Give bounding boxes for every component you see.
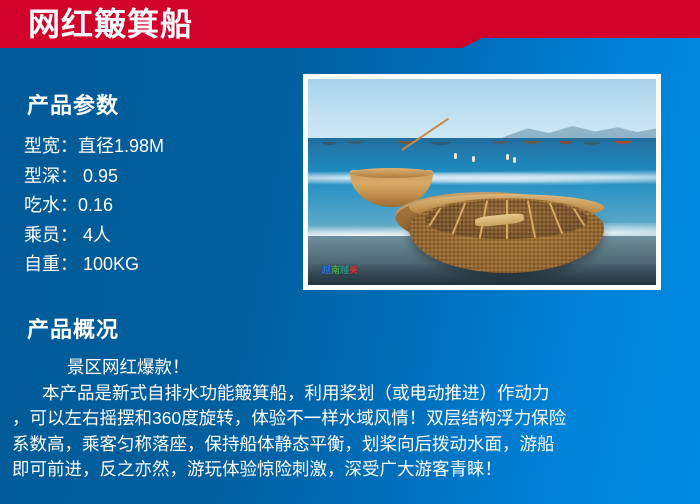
overview-line-5: 即可前进，反之亦然，游玩体验惊险刺激，深受广大游客青睐！: [12, 457, 688, 483]
photo-watermark: 越南越美: [322, 265, 358, 275]
photo-distant-boat: [430, 142, 451, 145]
param-row-draft: 吃水：0.16: [24, 191, 294, 221]
watermark-char-1: 越: [322, 265, 331, 275]
product-detail-page: 网红簸箕船 产品参数 型宽：直径1.98M 型深： 0.95 吃水：0.16 乘…: [0, 0, 700, 504]
param-row-capacity: 乘员： 4人: [24, 221, 294, 251]
product-photo-frame: 越南越美: [303, 74, 661, 290]
overview-line-3: ，可以左右摇摆和360度旋转，体验不一样水域风情！双层结构浮力保险: [12, 406, 688, 432]
overview-line-4: 系数高，乘客匀称落座，保持船体静态平衡，划桨向后拨动水面，游船: [12, 432, 688, 458]
param-row-weight: 自重： 100KG: [24, 250, 294, 280]
product-parameters-heading: 产品参数: [27, 88, 119, 120]
product-overview-heading: 产品概况: [27, 312, 119, 344]
product-overview-body: 景区网红爆款！ 本产品是新式自排水功能簸箕船，利用桨划（或电动推进）作动力 ，可…: [12, 355, 688, 483]
param-row-beam: 型宽：直径1.98M: [24, 132, 294, 162]
product-parameters-list: 型宽：直径1.98M 型深： 0.95 吃水：0.16 乘员： 4人 自重： 1…: [24, 132, 294, 280]
overview-line-2: 本产品是新式自排水功能簸箕船，利用桨划（或电动推进）作动力: [12, 381, 688, 407]
page-title: 网红簸箕船: [28, 2, 193, 46]
photo-swimmer: [472, 156, 475, 162]
watermark-char-3: 越: [340, 265, 349, 275]
watermark-char-2: 南: [331, 265, 340, 275]
watermark-char-4: 美: [349, 265, 358, 275]
overview-line-1: 景区网红爆款！: [12, 355, 688, 381]
param-row-depth: 型深： 0.95: [24, 162, 294, 192]
photo-sky: [308, 79, 656, 139]
photo-far-coracle-rim: [350, 168, 434, 178]
product-photo: 越南越美: [308, 79, 656, 285]
